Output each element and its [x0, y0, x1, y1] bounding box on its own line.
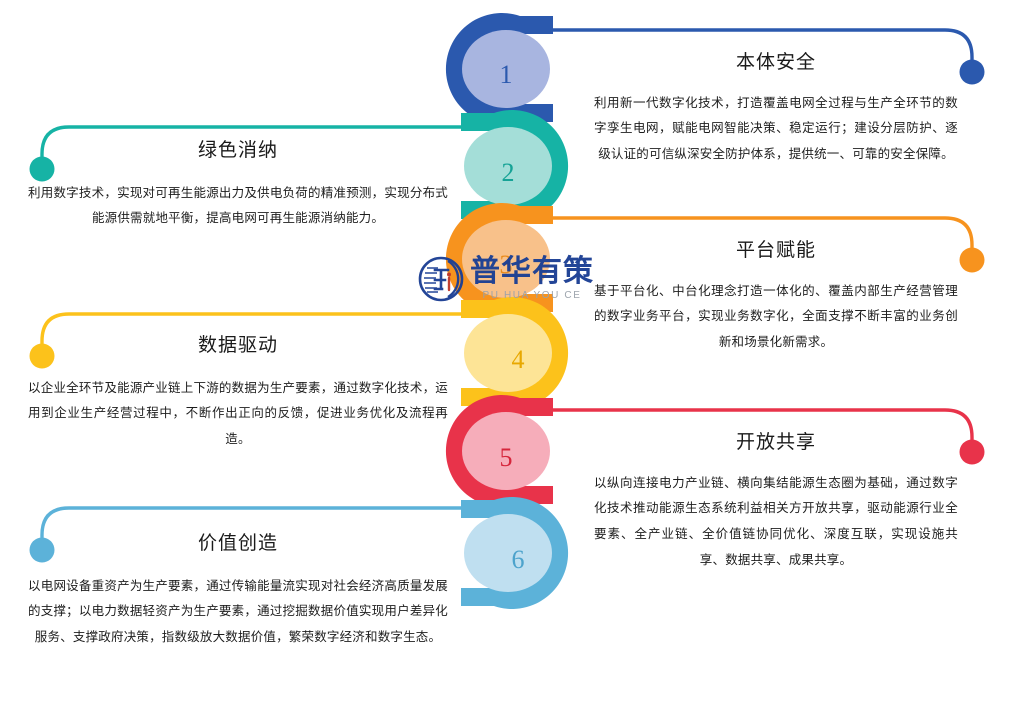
section-5: 开放共享 以纵向连接电力产业链、横向集结能源生态圈为基础，通过数字化技术推动能源… — [560, 432, 992, 573]
section-1-title: 本体安全 — [560, 52, 992, 75]
section-5-title: 开放共享 — [560, 432, 992, 455]
section-2-body: 利用数字技术，实现对可再生能源出力及供电负荷的精准预测，实现分布式能源供需就地平… — [22, 181, 454, 232]
section-4-body: 以企业全环节及能源产业链上下游的数据为生产要素，通过数字化技术，运用到企业生产经… — [22, 376, 454, 453]
section-6-title: 价值创造 — [22, 533, 454, 556]
section-2-title: 绿色消纳 — [22, 140, 454, 163]
watermark-brand-cn: 普华有策 — [470, 257, 594, 287]
section-4-title: 数据驱动 — [22, 335, 454, 358]
ring-5 — [446, 395, 553, 507]
ring-1 — [446, 13, 553, 125]
infographic-canvas: 1 2 3 4 5 6 本体安全 利用新一代数字化技术，打造覆盖电网全过程与生产… — [0, 0, 1014, 720]
section-1: 本体安全 利用新一代数字化技术，打造覆盖电网全过程与生产全环节的数字孪生电网，赋… — [560, 52, 992, 168]
section-6: 价值创造 以电网设备重资产为生产要素，通过传输能量流实现对社会经济高质量发展的支… — [22, 533, 454, 651]
section-5-body: 以纵向连接电力产业链、横向集结能源生态圈为基础，通过数字化技术推动能源生态系统利… — [560, 471, 992, 574]
section-2: 绿色消纳 利用数字技术，实现对可再生能源出力及供电负荷的精准预测，实现分布式能源… — [22, 140, 454, 232]
ring-6 — [461, 497, 568, 609]
watermark-brand-en: PU HUA YOU CE — [470, 290, 594, 301]
ring-4 — [461, 297, 568, 409]
watermark: 普华有策 PU HUA YOU CE — [418, 248, 628, 310]
puhua-logo-icon — [418, 256, 464, 302]
section-1-body: 利用新一代数字化技术，打造覆盖电网全过程与生产全环节的数字孪生电网，赋能电网智能… — [560, 91, 992, 168]
section-6-body: 以电网设备重资产为生产要素，通过传输能量流实现对社会经济高质量发展的支撑；以电力… — [22, 574, 454, 651]
section-4: 数据驱动 以企业全环节及能源产业链上下游的数据为生产要素，通过数字化技术，运用到… — [22, 335, 454, 453]
